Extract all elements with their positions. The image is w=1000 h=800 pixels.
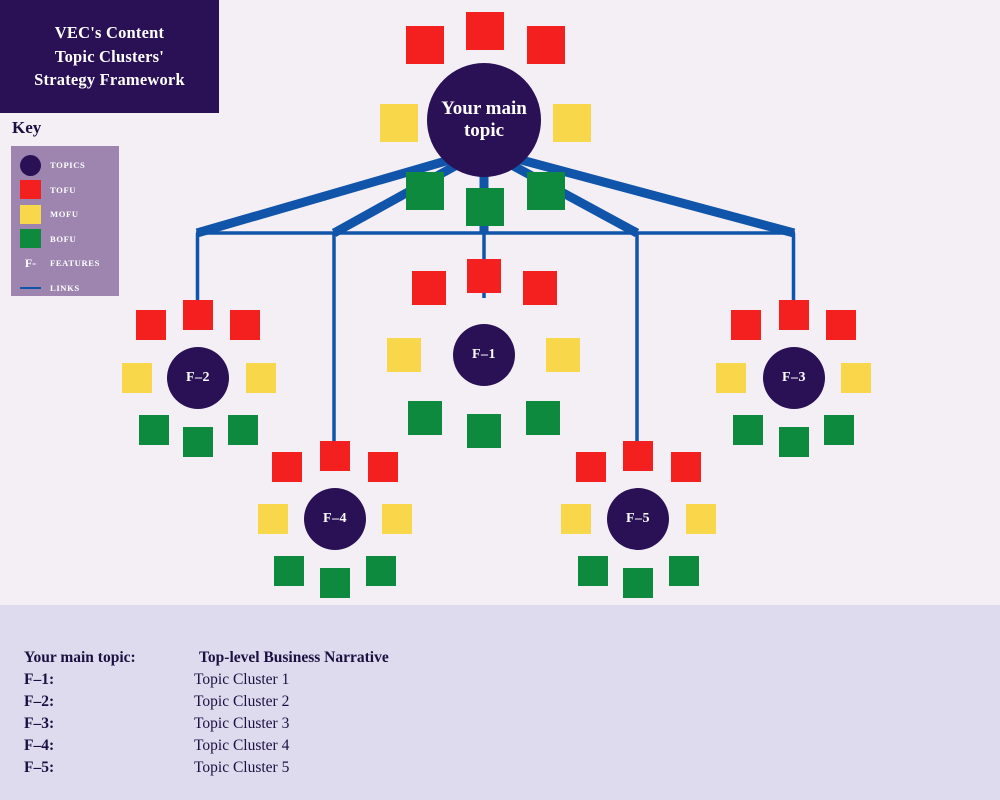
bofu-square[interactable] — [669, 556, 699, 586]
tofu-square[interactable] — [523, 271, 557, 305]
mofu-square[interactable] — [686, 504, 716, 534]
infographic-root: Your main topic F–1 — [0, 0, 1000, 800]
tofu-square[interactable] — [467, 259, 501, 293]
tofu-square[interactable] — [826, 310, 856, 340]
tofu-square[interactable] — [671, 452, 701, 482]
hub-f1[interactable]: F–1 — [453, 324, 515, 386]
key-legend: TOPICS TOFU MOFU BOFU F- FEATURES — [11, 146, 119, 296]
key-item-label: FEATURES — [50, 258, 100, 268]
bofu-square[interactable] — [406, 172, 444, 210]
key-item-label: BOFU — [50, 234, 76, 244]
legend-definition: Topic Cluster 2 — [194, 691, 289, 713]
tofu-square[interactable] — [230, 310, 260, 340]
legend-term: F–5: — [24, 757, 194, 779]
bofu-square[interactable] — [623, 568, 653, 598]
tofu-square[interactable] — [320, 441, 350, 471]
bofu-square[interactable] — [467, 414, 501, 448]
bofu-square[interactable] — [183, 427, 213, 457]
tofu-square[interactable] — [272, 452, 302, 482]
mofu-square[interactable] — [246, 363, 276, 393]
legend-term: F–4: — [24, 735, 194, 757]
mofu-square[interactable] — [387, 338, 421, 372]
tofu-square[interactable] — [731, 310, 761, 340]
links-line-icon — [20, 278, 41, 297]
bofu-square[interactable] — [139, 415, 169, 445]
legend-row: Your main topic: Top-level Business Narr… — [24, 647, 389, 669]
hub-main-topic-label: Your main topic — [441, 98, 527, 143]
hub-f3-label: F–3 — [782, 370, 806, 387]
bofu-square[interactable] — [366, 556, 396, 586]
tofu-square[interactable] — [368, 452, 398, 482]
hub-main-topic[interactable]: Your main topic — [427, 63, 541, 177]
page-title: VEC's Content Topic Clusters' Strategy F… — [26, 21, 193, 91]
legend-row: F–2: Topic Cluster 2 — [24, 691, 389, 713]
hub-f5[interactable]: F–5 — [607, 488, 669, 550]
legend-panel: Your main topic: Top-level Business Narr… — [0, 605, 1000, 800]
key-item-label: TOFU — [50, 185, 76, 195]
bofu-square[interactable] — [228, 415, 258, 445]
bofu-square[interactable] — [320, 568, 350, 598]
features-f-icon: F- — [20, 254, 41, 273]
legend-term: F–2: — [24, 691, 194, 713]
hub-f5-label: F–5 — [626, 511, 650, 528]
mofu-square[interactable] — [380, 104, 418, 142]
key-item-label: MOFU — [50, 209, 79, 219]
cluster-definitions-table: Your main topic: Top-level Business Narr… — [24, 647, 389, 779]
hub-f4-label: F–4 — [323, 511, 347, 528]
tofu-square[interactable] — [406, 26, 444, 64]
bofu-square[interactable] — [578, 556, 608, 586]
mofu-square-icon — [20, 205, 41, 224]
bofu-square[interactable] — [526, 401, 560, 435]
tofu-square-icon — [20, 180, 41, 199]
hub-f3[interactable]: F–3 — [763, 347, 825, 409]
legend-row: F–3: Topic Cluster 3 — [24, 713, 389, 735]
tofu-square[interactable] — [136, 310, 166, 340]
mofu-square[interactable] — [841, 363, 871, 393]
bofu-square[interactable] — [408, 401, 442, 435]
title-banner: VEC's Content Topic Clusters' Strategy F… — [0, 0, 219, 113]
hub-f4[interactable]: F–4 — [304, 488, 366, 550]
bofu-square[interactable] — [824, 415, 854, 445]
tofu-square[interactable] — [527, 26, 565, 64]
bofu-square[interactable] — [466, 188, 504, 226]
legend-definition: Topic Cluster 4 — [194, 735, 289, 757]
tofu-square[interactable] — [779, 300, 809, 330]
bofu-square[interactable] — [274, 556, 304, 586]
legend-term: F–3: — [24, 713, 194, 735]
tofu-square[interactable] — [183, 300, 213, 330]
bofu-square[interactable] — [733, 415, 763, 445]
key-item-topics: TOPICS — [11, 153, 119, 178]
legend-row: F–1: Topic Cluster 1 — [24, 669, 389, 691]
key-item-bofu: BOFU — [11, 227, 119, 252]
mofu-square[interactable] — [258, 504, 288, 534]
mofu-square[interactable] — [716, 363, 746, 393]
key-item-mofu: MOFU — [11, 202, 119, 227]
tofu-square[interactable] — [412, 271, 446, 305]
bofu-square[interactable] — [779, 427, 809, 457]
hub-f1-label: F–1 — [472, 347, 496, 364]
features-glyph: F- — [25, 257, 36, 269]
hub-f2[interactable]: F–2 — [167, 347, 229, 409]
key-item-tofu: TOFU — [11, 178, 119, 203]
bofu-square-icon — [20, 229, 41, 248]
legend-definition: Topic Cluster 3 — [194, 713, 289, 735]
legend-definition: Topic Cluster 1 — [194, 669, 289, 691]
mofu-square[interactable] — [561, 504, 591, 534]
tofu-square[interactable] — [576, 452, 606, 482]
diagram-canvas: Your main topic F–1 — [0, 0, 1000, 605]
tofu-square[interactable] — [466, 12, 504, 50]
mofu-square[interactable] — [553, 104, 591, 142]
legend-definition: Topic Cluster 5 — [194, 757, 289, 779]
tofu-square[interactable] — [623, 441, 653, 471]
mofu-square[interactable] — [382, 504, 412, 534]
legend-definition: Top-level Business Narrative — [194, 647, 389, 669]
mofu-square[interactable] — [546, 338, 580, 372]
key-item-label: LINKS — [50, 283, 80, 293]
hub-f2-label: F–2 — [186, 370, 210, 387]
topics-circle-icon — [20, 155, 41, 176]
legend-term: F–1: — [24, 669, 194, 691]
legend-term: Your main topic: — [24, 647, 194, 669]
key-item-links: LINKS — [11, 276, 119, 301]
key-item-features: F- FEATURES — [11, 251, 119, 276]
mofu-square[interactable] — [122, 363, 152, 393]
bofu-square[interactable] — [527, 172, 565, 210]
key-heading: Key — [12, 118, 41, 138]
legend-row: F–5: Topic Cluster 5 — [24, 757, 389, 779]
key-item-label: TOPICS — [50, 160, 85, 170]
legend-row: F–4: Topic Cluster 4 — [24, 735, 389, 757]
